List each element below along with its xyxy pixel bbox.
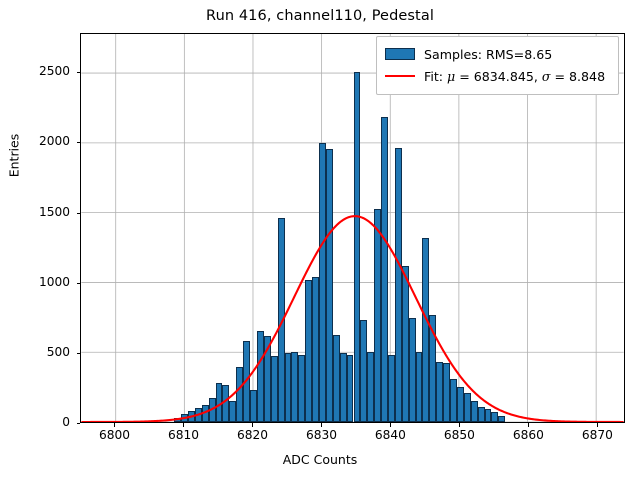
x-tick-label: 6810 [153,428,213,442]
y-tick-label: 2500 [12,64,70,78]
legend-label-fit: Fit: μ = 6834.845, σ = 8.848 [424,69,605,84]
x-tick-label: 6870 [567,428,627,442]
x-tick-label: 6830 [291,428,351,442]
legend-label-samples: Samples: RMS=8.65 [424,47,552,62]
y-tick-mark [77,423,81,424]
y-tick-label: 1000 [12,275,70,289]
x-tick-label: 6840 [360,428,420,442]
y-tick-label: 0 [12,415,70,429]
x-tick-mark [252,423,253,427]
chart-title: Run 416, channel110, Pedestal [0,8,640,24]
y-tick-mark [77,72,81,73]
chart-legend: Samples: RMS=8.65 Fit: μ = 6834.845, σ =… [376,36,619,95]
x-tick-mark [114,423,115,427]
y-tick-mark [77,353,81,354]
x-tick-label: 6800 [84,428,144,442]
x-tick-mark [321,423,322,427]
legend-patch-icon [385,48,415,60]
y-axis-label: Entries [7,96,22,216]
legend-item-fit: Fit: μ = 6834.845, σ = 8.848 [385,65,610,87]
legend-line-icon [385,75,415,77]
x-axis-label: ADC Counts [0,452,640,467]
y-tick-mark [77,142,81,143]
y-tick-mark [77,213,81,214]
y-tick-label: 500 [12,345,70,359]
x-tick-label: 6860 [498,428,558,442]
chart-figure: Run 416, channel110, Pedestal 6800681068… [0,0,640,480]
x-tick-mark [528,423,529,427]
legend-item-samples: Samples: RMS=8.65 [385,43,610,65]
x-tick-label: 6850 [429,428,489,442]
x-tick-mark [390,423,391,427]
x-tick-label: 6820 [222,428,282,442]
y-tick-mark [77,283,81,284]
x-tick-mark [183,423,184,427]
x-tick-mark [459,423,460,427]
x-tick-mark [597,423,598,427]
